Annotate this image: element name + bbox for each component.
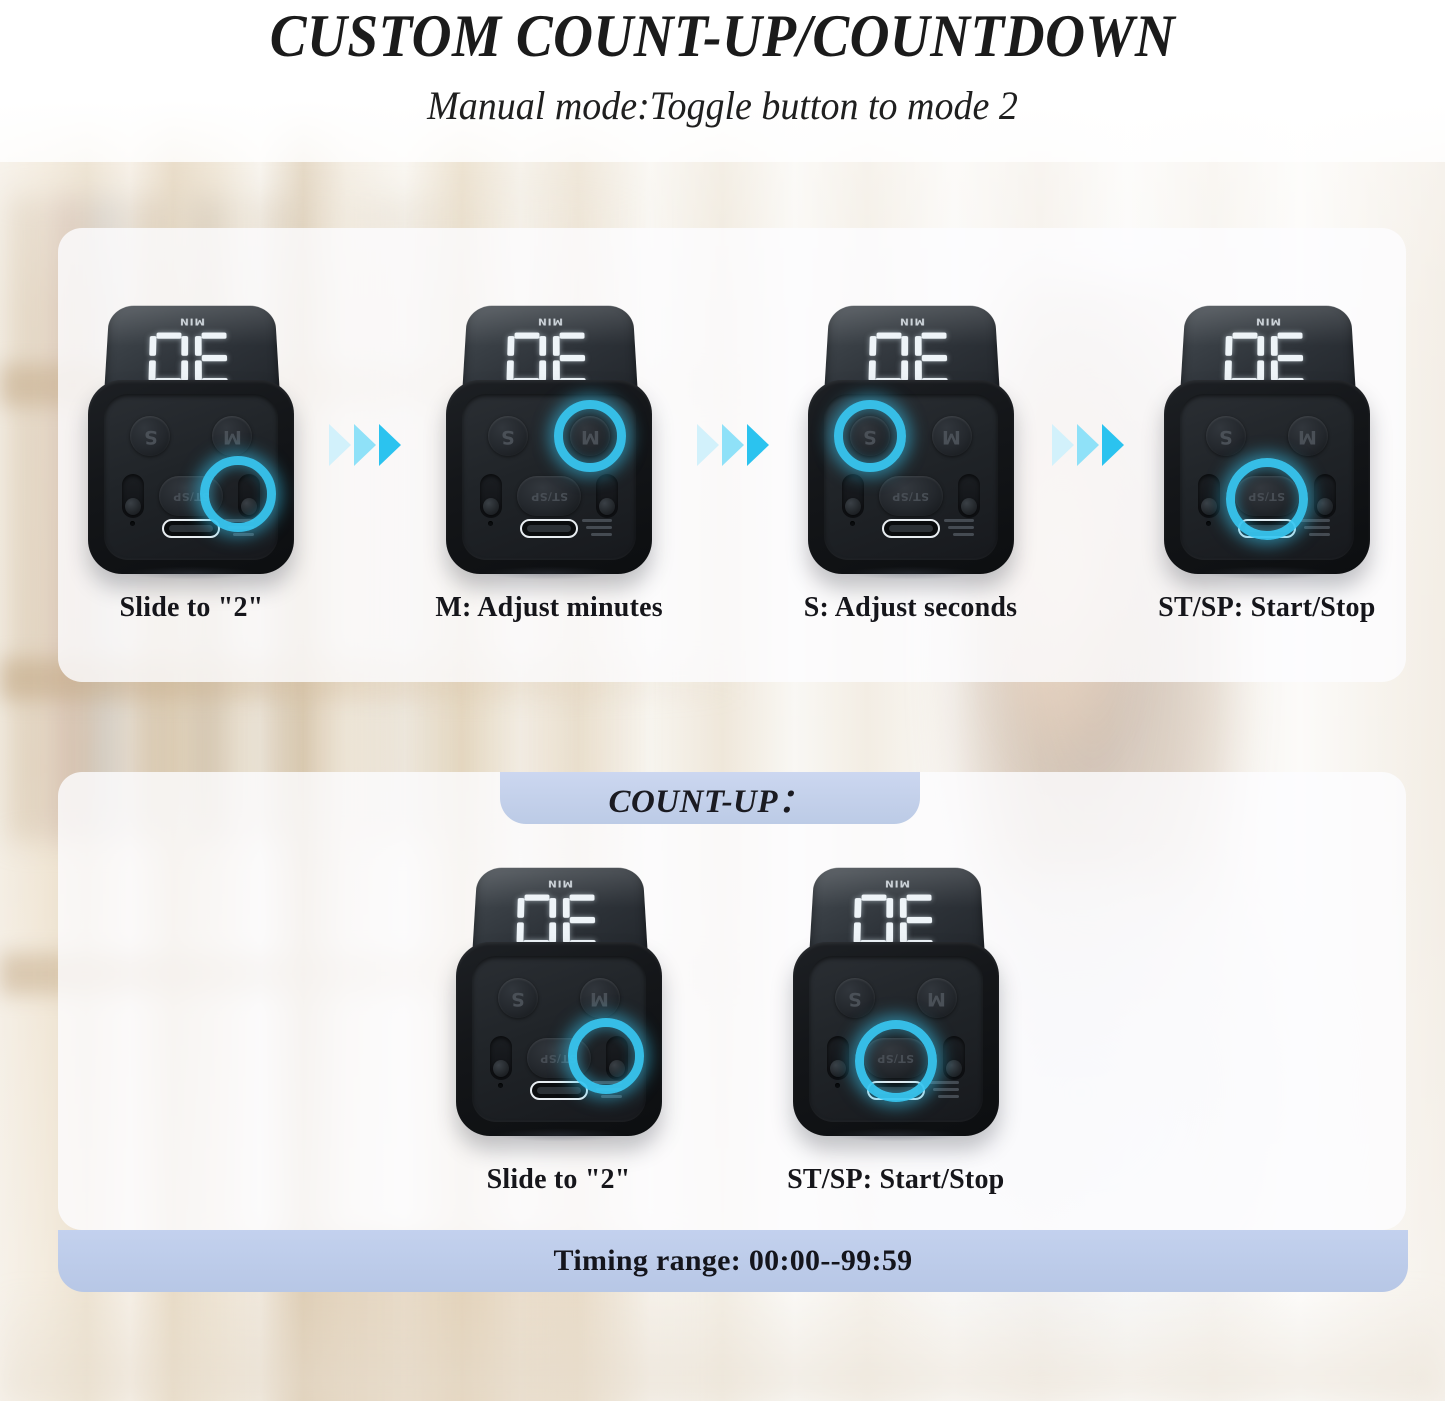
mode-slider-left[interactable] [827,1036,849,1080]
countdown-step-4[interactable]: MIN S M ST/SP [1158,296,1375,624]
button-m[interactable]: M [212,416,252,456]
timer-device[interactable]: MIN S M ST/SP [88,296,294,574]
device-back-panel[interactable]: S M ST/SP [808,380,1014,574]
button-stsp-label: ST/SP [173,490,210,503]
button-m-label: M [223,427,242,446]
button-s-label: S [848,989,862,1008]
device-control-plate: S M ST/SP [824,394,998,560]
page-title: CUSTOM COUNT-UP/COUNTDOWN [58,0,1387,66]
button-stsp-label: ST/SP [877,1052,914,1065]
step-caption: ST/SP: Start/Stop [1158,592,1375,624]
button-s[interactable]: S [1206,416,1246,456]
button-m[interactable]: M [570,416,610,456]
device-shadow [102,564,280,582]
lcd-unit-label: MIN [1255,316,1281,327]
lcd-digit-tens [553,332,593,385]
step-caption: M: Adjust minutes [435,592,662,624]
countup-step-1[interactable]: MIN S M ST/SP [456,858,662,1196]
mode-slider-right[interactable] [943,1036,965,1080]
arrow-separator-3 [1048,300,1128,590]
step-caption: Slide to "2" [119,592,263,624]
device-shadow [460,564,638,582]
lcd-digit-ones [1225,332,1265,385]
speaker-grille-icon [1296,515,1330,536]
countdown-step-2[interactable]: MIN S M ST/SP [435,296,662,624]
button-s[interactable]: S [850,416,890,456]
device-control-plate: S M ST/SP [809,956,983,1122]
chevron-right-icon [697,424,769,466]
lcd-unit-label: MIN [884,878,910,889]
button-stsp-label: ST/SP [1248,490,1285,503]
button-stsp[interactable]: ST/SP [527,1038,591,1078]
page-subtitle: Manual mode:Toggle button to mode 2 [36,66,1409,128]
device-shadow [822,564,1000,582]
button-s[interactable]: S [498,978,538,1018]
arrow-separator-2 [693,300,773,590]
step-caption: ST/SP: Start/Stop [787,1164,1004,1196]
device-back-panel[interactable]: S M ST/SP [1164,380,1370,574]
mode-slider-left[interactable] [480,474,502,518]
lcd-digit-ones [149,332,189,385]
speaker-grille-icon [940,515,974,536]
countup-steps: MIN S M ST/SP [330,858,1130,1196]
arrow-separator-1 [325,300,405,590]
usb-c-port-icon [530,1081,588,1100]
button-m[interactable]: M [917,978,957,1018]
button-stsp-label: ST/SP [540,1052,577,1065]
device-control-plate: S M ST/SP [1180,394,1354,560]
mic-hole-icon [498,1083,503,1088]
timer-device[interactable]: MIN S M ST/SP [793,858,999,1136]
button-m-label: M [581,427,600,446]
lcd-digit-ones [516,894,556,947]
device-control-plate: S M ST/SP [104,394,278,560]
countup-banner: COUNT-UP： [500,772,920,824]
button-m-label: M [590,989,609,1008]
speaker-grille-icon [588,1077,622,1098]
button-stsp[interactable]: ST/SP [517,476,581,516]
lcd-digit-tens [196,332,236,385]
button-s[interactable]: S [835,978,875,1018]
button-stsp[interactable]: ST/SP [159,476,223,516]
device-back-panel[interactable]: S M ST/SP [793,942,999,1136]
timing-range-bar: Timing range: 00:00--99:59 [58,1230,1408,1292]
lcd-digit-tens [563,894,603,947]
lcd-unit-label: MIN [537,316,563,327]
button-s-label: S [144,427,158,446]
step-caption: S: Adjust seconds [804,592,1017,624]
button-stsp-label: ST/SP [531,490,568,503]
speaker-grille-icon [578,515,612,536]
device-shadow [1178,564,1356,582]
device-back-panel[interactable]: S M ST/SP [88,380,294,574]
chevron-right-icon [329,424,401,466]
lcd-digits [854,894,940,947]
mode-slider-right[interactable] [596,474,618,518]
lcd-digits [868,332,954,385]
lcd-digit-tens [900,894,940,947]
speaker-grille-icon [220,515,254,536]
lcd-unit-label: MIN [899,316,925,327]
device-shadow [807,1126,985,1144]
mode-slider-right[interactable] [606,1036,628,1080]
timer-device[interactable]: MIN S M ST/SP [446,296,652,574]
button-s[interactable]: S [488,416,528,456]
speaker-grille-icon [925,1077,959,1098]
timer-device[interactable]: MIN S M ST/SP [456,858,662,1136]
lcd-digit-ones [507,332,547,385]
mode-slider-right[interactable] [238,474,260,518]
device-back-panel[interactable]: S M ST/SP [456,942,662,1136]
mode-slider-right[interactable] [1314,474,1336,518]
mode-slider-right[interactable] [958,474,980,518]
device-control-plate: S M ST/SP [472,956,646,1122]
lcd-digits [507,332,593,385]
lcd-digit-tens [915,332,955,385]
countup-banner-label: COUNT-UP： [608,774,811,822]
button-m[interactable]: M [580,978,620,1018]
timer-device[interactable]: MIN S M ST/SP [1164,296,1370,574]
lcd-digits [1225,332,1311,385]
countdown-steps: MIN S M ST/SP [58,296,1406,624]
lcd-unit-label: MIN [547,878,573,889]
usb-c-port-icon [520,519,578,538]
lcd-unit-label: MIN [179,316,205,327]
mic-hole-icon [850,521,855,526]
usb-c-port-icon [882,519,940,538]
timing-range-label: Timing range: 00:00--99:59 [554,1244,913,1278]
button-s-label: S [501,427,515,446]
usb-c-port-icon [1238,519,1296,538]
button-stsp[interactable]: ST/SP [879,476,943,516]
timer-device[interactable]: MIN S M ST/SP [808,296,1014,574]
device-control-plate: S M ST/SP [462,394,636,560]
mic-hole-icon [130,521,135,526]
countdown-step-1[interactable]: MIN S M ST/SP [88,296,294,624]
button-m-label: M [942,427,961,446]
button-s-label: S [863,427,877,446]
device-shadow [470,1126,648,1144]
button-s-label: S [1219,427,1233,446]
lcd-digit-tens [1271,332,1311,385]
mic-hole-icon [488,521,493,526]
countup-step-2[interactable]: MIN S M ST/SP [787,858,1004,1196]
chevron-right-icon [1052,424,1124,466]
countdown-step-3[interactable]: MIN S M ST/SP [804,296,1017,624]
mode-slider-left[interactable] [122,474,144,518]
button-m[interactable]: M [1288,416,1328,456]
lcd-digit-ones [854,894,894,947]
button-m-label: M [1298,427,1317,446]
mic-hole-icon [1206,521,1211,526]
button-s[interactable]: S [130,416,170,456]
lcd-digits [149,332,235,385]
button-stsp-label: ST/SP [892,490,929,503]
button-stsp[interactable]: ST/SP [864,1038,928,1078]
mode-slider-left[interactable] [1198,474,1220,518]
button-s-label: S [511,989,525,1008]
button-m-label: M [927,989,946,1008]
lcd-digits [516,894,602,947]
mode-slider-left[interactable] [842,474,864,518]
mic-hole-icon [835,1083,840,1088]
button-m[interactable]: M [932,416,972,456]
header: CUSTOM COUNT-UP/COUNTDOWN Manual mode:To… [0,0,1445,128]
mode-slider-left[interactable] [490,1036,512,1080]
lcd-digit-ones [868,332,908,385]
step-caption: Slide to "2" [487,1164,631,1196]
device-back-panel[interactable]: S M ST/SP [446,380,652,574]
button-stsp[interactable]: ST/SP [1235,476,1299,516]
usb-c-port-icon [867,1081,925,1100]
usb-c-port-icon [162,519,220,538]
